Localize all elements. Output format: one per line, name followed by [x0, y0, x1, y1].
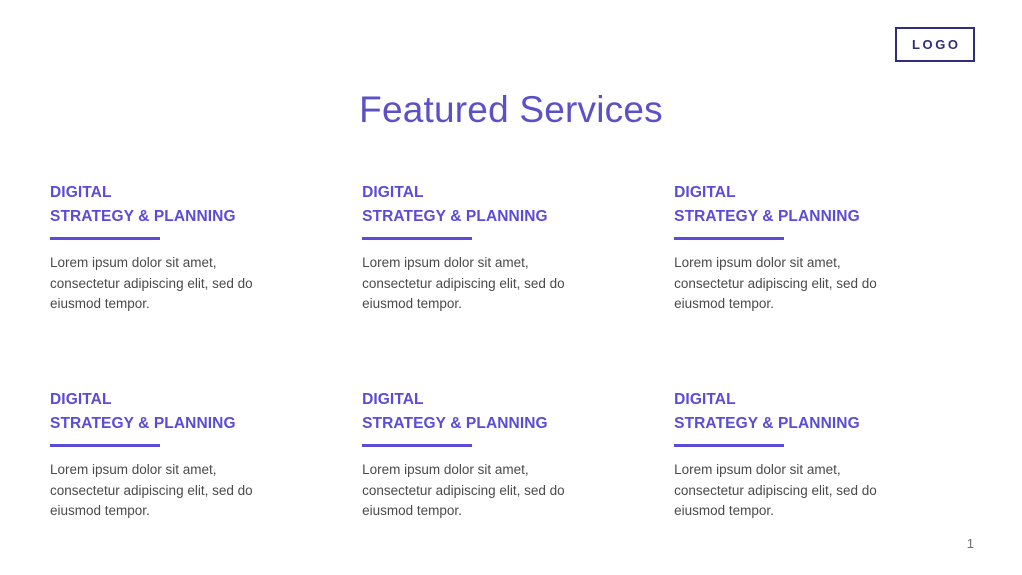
service-card[interactable]: DIGITAL STRATEGY & PLANNING Lorem ipsum …	[362, 388, 674, 535]
service-card-heading-line2: STRATEGY & PLANNING	[50, 205, 262, 229]
service-card-heading: DIGITAL STRATEGY & PLANNING	[674, 388, 970, 436]
service-card-heading-line1: DIGITAL	[674, 184, 736, 201]
service-card[interactable]: DIGITAL STRATEGY & PLANNING Lorem ipsum …	[50, 388, 362, 535]
service-card-divider	[362, 237, 472, 240]
service-card-body: Lorem ipsum dolor sit amet, consectetur …	[362, 460, 574, 522]
services-row-2: DIGITAL STRATEGY & PLANNING Lorem ipsum …	[50, 388, 970, 535]
service-card-heading-line1: DIGITAL	[362, 391, 424, 408]
service-card-divider	[50, 444, 160, 447]
service-card-heading-line1: DIGITAL	[50, 391, 112, 408]
service-card-heading-line2: STRATEGY & PLANNING	[674, 412, 970, 436]
service-card-body: Lorem ipsum dolor sit amet, consectetur …	[674, 253, 889, 315]
service-card-body: Lorem ipsum dolor sit amet, consectetur …	[50, 253, 262, 315]
service-card-heading: DIGITAL STRATEGY & PLANNING	[50, 181, 262, 229]
page-number: 1	[967, 536, 974, 551]
service-card-divider	[674, 237, 784, 240]
service-card-body: Lorem ipsum dolor sit amet, consectetur …	[362, 253, 574, 315]
service-card-heading-line2: STRATEGY & PLANNING	[50, 412, 262, 436]
slide-canvas: LOGO Featured Services DIGITAL STRATEGY …	[0, 0, 1022, 575]
service-card-heading: DIGITAL STRATEGY & PLANNING	[50, 388, 262, 436]
service-card-divider	[674, 444, 784, 447]
service-card-heading-line1: DIGITAL	[362, 184, 424, 201]
service-card-body: Lorem ipsum dolor sit amet, consectetur …	[50, 460, 262, 522]
service-card[interactable]: DIGITAL STRATEGY & PLANNING Lorem ipsum …	[50, 181, 362, 328]
service-card-heading: DIGITAL STRATEGY & PLANNING	[362, 181, 574, 229]
service-card-heading-line2: STRATEGY & PLANNING	[362, 412, 574, 436]
service-card-divider	[50, 237, 160, 240]
service-card-heading-line1: DIGITAL	[50, 184, 112, 201]
service-card[interactable]: DIGITAL STRATEGY & PLANNING Lorem ipsum …	[362, 181, 674, 328]
service-card-heading-line2: STRATEGY & PLANNING	[362, 205, 574, 229]
service-card-heading-line2: STRATEGY & PLANNING	[674, 205, 970, 229]
logo-text: LOGO	[909, 38, 960, 51]
service-card-heading: DIGITAL STRATEGY & PLANNING	[674, 181, 970, 229]
page-title: Featured Services	[0, 89, 1022, 132]
service-card-heading-line1: DIGITAL	[674, 391, 736, 408]
services-grid: DIGITAL STRATEGY & PLANNING Lorem ipsum …	[50, 181, 970, 535]
service-card-divider	[362, 444, 472, 447]
service-card[interactable]: DIGITAL STRATEGY & PLANNING Lorem ipsum …	[674, 388, 970, 535]
service-card-heading: DIGITAL STRATEGY & PLANNING	[362, 388, 574, 436]
service-card-body: Lorem ipsum dolor sit amet, consectetur …	[674, 460, 889, 522]
logo-placeholder[interactable]: LOGO	[895, 27, 975, 62]
service-card[interactable]: DIGITAL STRATEGY & PLANNING Lorem ipsum …	[674, 181, 970, 328]
services-row-1: DIGITAL STRATEGY & PLANNING Lorem ipsum …	[50, 181, 970, 328]
